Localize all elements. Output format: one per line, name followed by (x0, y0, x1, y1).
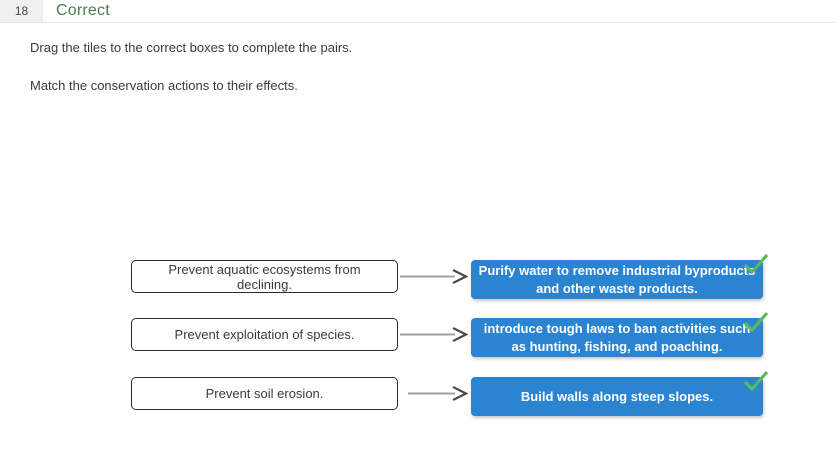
arrow-right-icon (408, 383, 468, 403)
matching-area: Prevent aquatic ecosystems from declinin… (0, 260, 836, 434)
match-row: Prevent exploitation of species. introdu… (0, 318, 836, 376)
question-number-badge: 18 (0, 0, 43, 22)
arrow-right-icon (400, 266, 468, 286)
match-right-tile[interactable]: Purify water to remove industrial byprod… (471, 260, 763, 299)
match-row: Prevent soil erosion. Build walls along … (0, 377, 836, 435)
arrow-right-icon (400, 324, 468, 344)
match-right-tile-label: Build walls along steep slopes. (521, 388, 713, 406)
question-status-label: Correct (56, 0, 110, 22)
match-row: Prevent aquatic ecosystems from declinin… (0, 260, 836, 318)
match-right-tile[interactable]: Build walls along steep slopes. (471, 377, 763, 416)
match-left-tile[interactable]: Prevent soil erosion. (131, 377, 398, 410)
instructions-block: Drag the tiles to the correct boxes to c… (30, 40, 790, 94)
match-right-tile-label: introduce tough laws to ban activities s… (477, 320, 757, 356)
instruction-line-drag: Drag the tiles to the correct boxes to c… (30, 40, 790, 56)
instruction-line-prompt: Match the conservation actions to their … (30, 78, 790, 94)
match-right-tile-label: Purify water to remove industrial byprod… (477, 262, 757, 298)
match-left-tile[interactable]: Prevent aquatic ecosystems from declinin… (131, 260, 398, 293)
question-header: 18 Correct (0, 0, 836, 23)
match-right-tile[interactable]: introduce tough laws to ban activities s… (471, 318, 763, 357)
match-left-tile[interactable]: Prevent exploitation of species. (131, 318, 398, 351)
